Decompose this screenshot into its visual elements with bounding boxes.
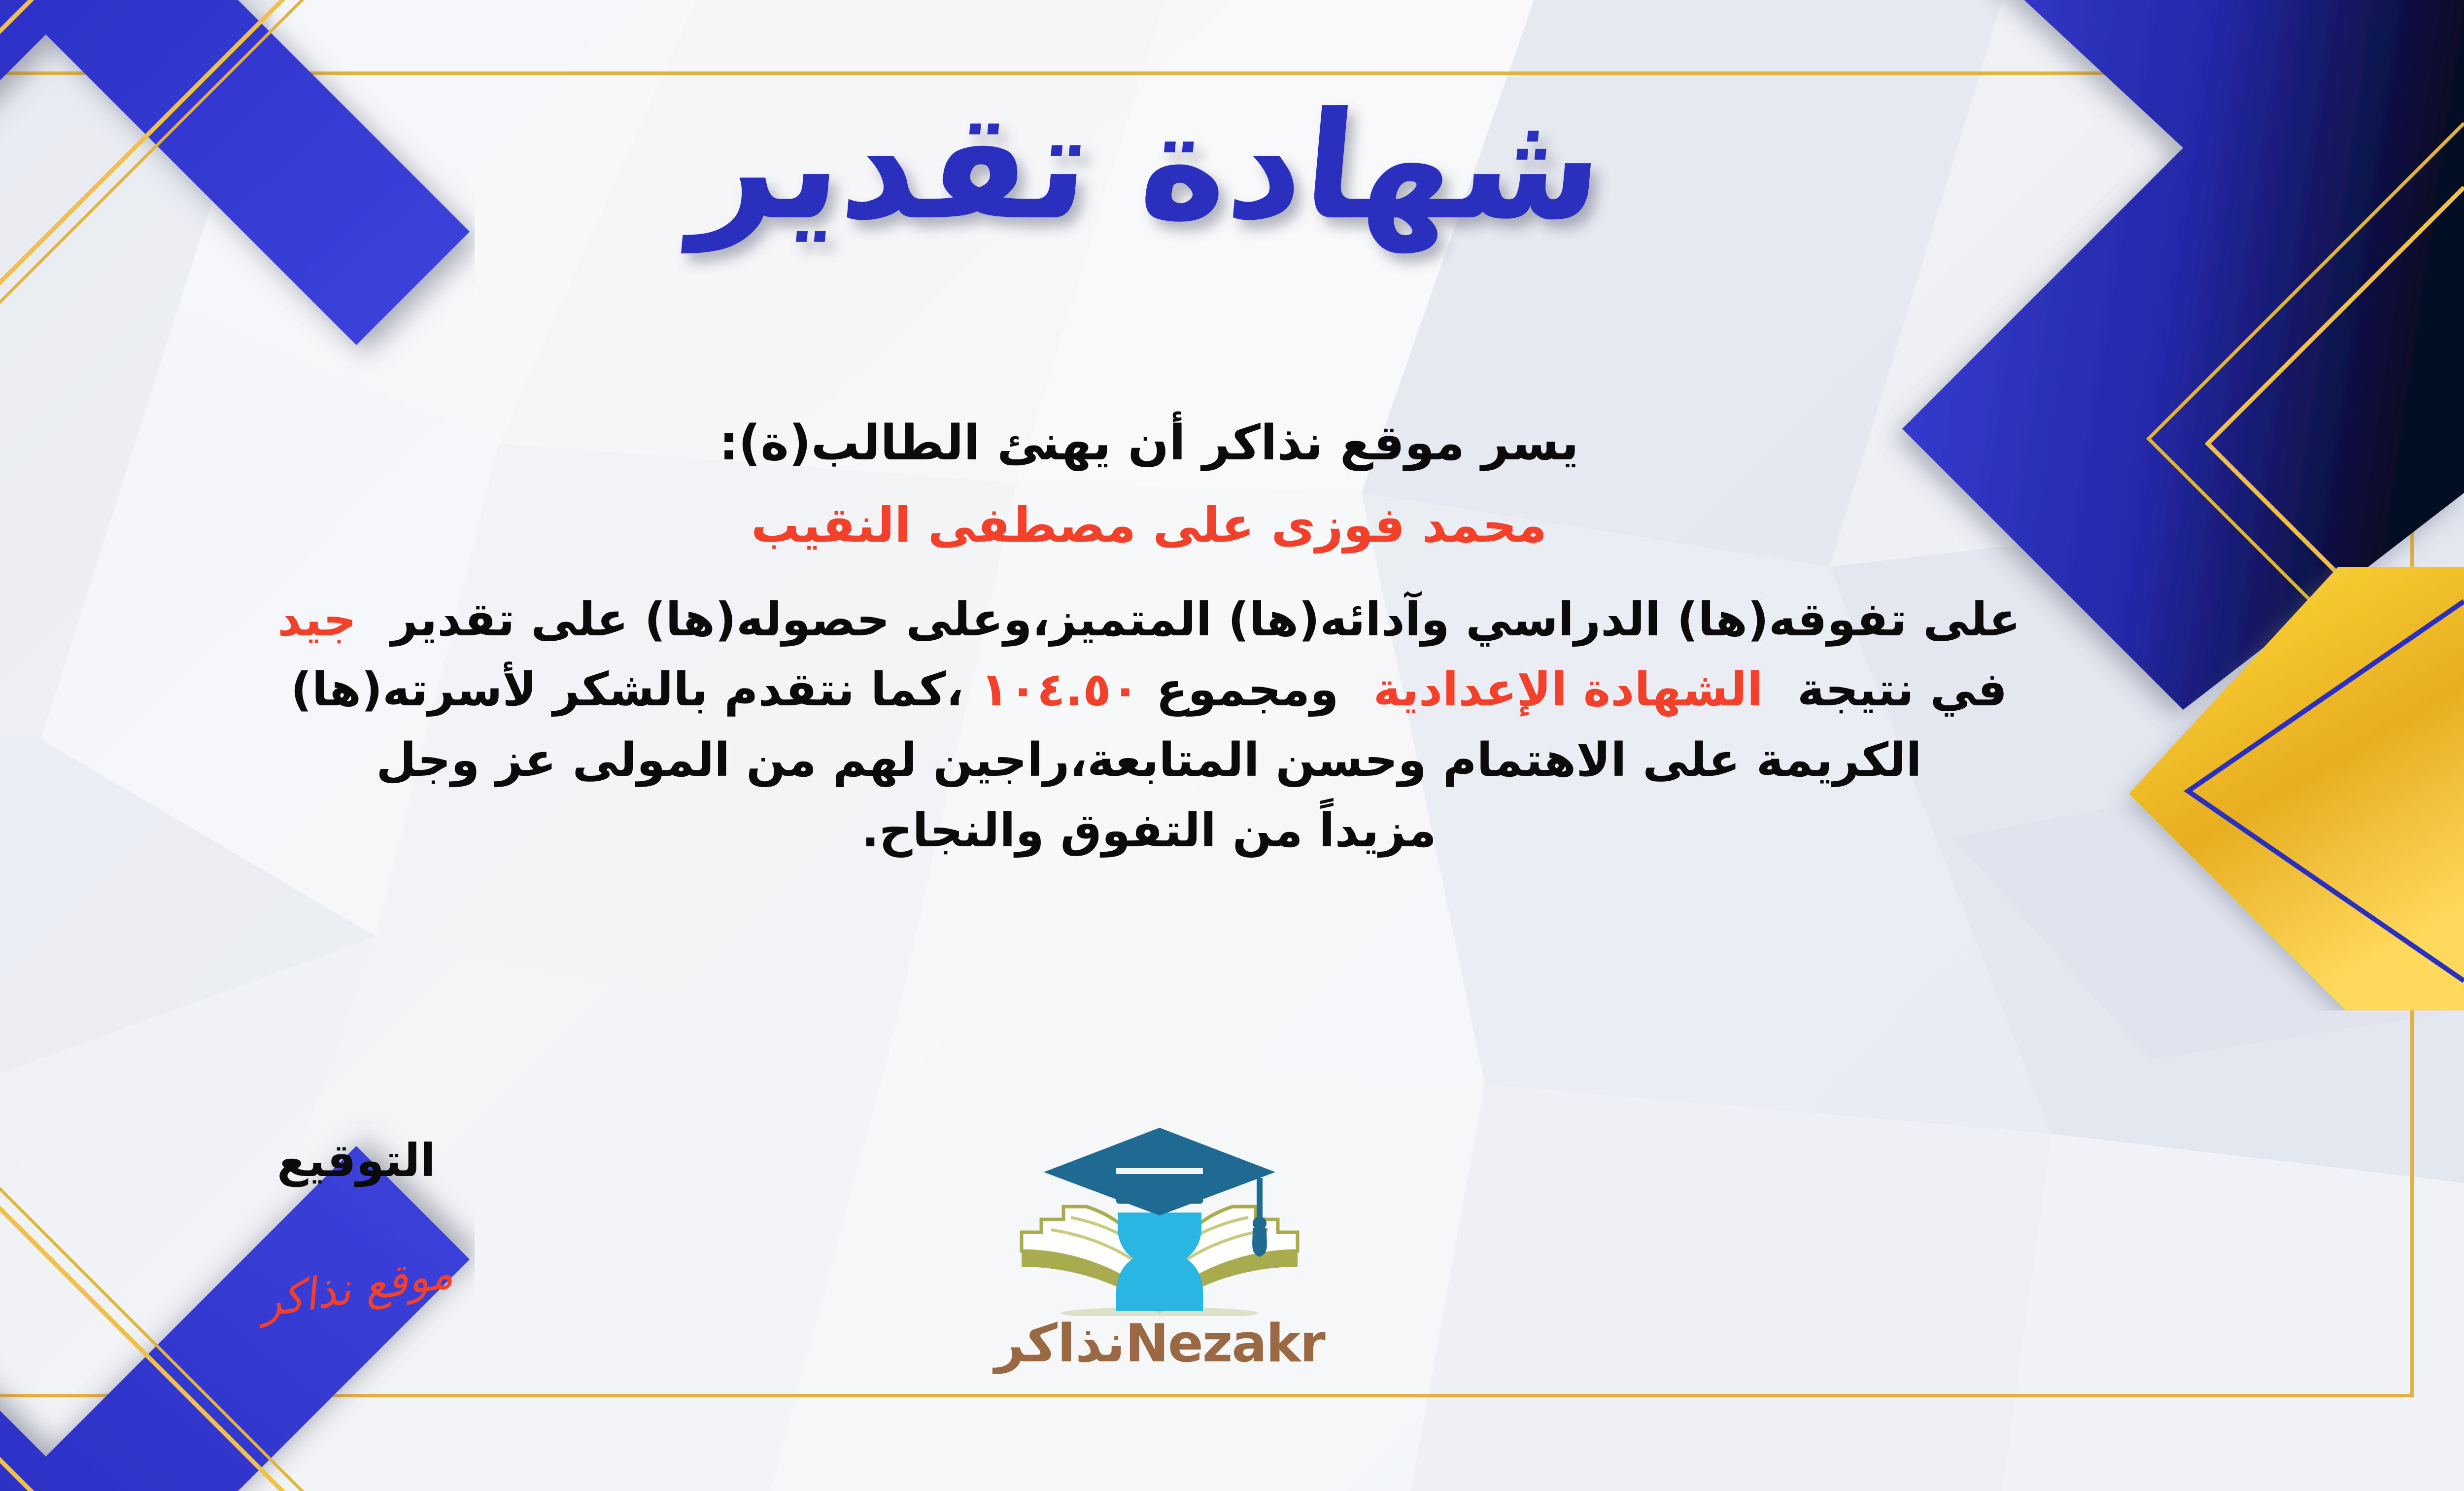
logo-latin-name: Nezakr [1125, 1313, 1325, 1374]
paragraph-line-3: على تفوقه(ها) الدراسي وآدائه(ها) المتميز… [0, 585, 2380, 656]
paragraph-line-6: مزيداً من التفوق والنجاح. [0, 796, 2380, 867]
thanks-suffix: ،كما نتقدم بالشكر لأسرته(ها) [291, 663, 964, 717]
page-title: شهادة تقدير [687, 74, 1611, 259]
student-figure-icon [1116, 1213, 1203, 1311]
grade-value: جيد [277, 593, 356, 647]
total-score-value: ١٠٤.٥٠ [980, 663, 1139, 717]
achievement-text: على تفوقه(ها) الدراسي وآدائه(ها) المتميز… [391, 593, 2020, 647]
paragraph-line-5: الكريمة على الاهتمام وحسن المتابعة،راجين… [0, 726, 2380, 796]
brand-logo: Nezakrنذاكر [972, 1119, 1347, 1374]
total-label: ومجموع [1156, 663, 1339, 717]
student-name: محمد فوزى على مصطفى النقيب [0, 494, 2380, 557]
signature-block: التوقيع موقع نذاكر [174, 1134, 539, 1313]
logo-arabic-name: نذاكر [994, 1313, 1125, 1374]
logo-wordmark: Nezakrنذاكر [972, 1313, 1347, 1374]
exam-name: الشهادة الإعدادية [1373, 663, 1763, 717]
certificate-canvas: شهادة تقدير يسر موقع نذاكر أن يهنئ الطال… [0, 0, 2464, 1491]
achievement-paragraph: على تفوقه(ها) الدراسي وآدائه(ها) المتميز… [0, 585, 2380, 867]
intro-line: يسر موقع نذاكر أن يهنئ الطالب(ة): [0, 409, 2380, 478]
result-prefix: في نتيجة [1797, 663, 2007, 717]
paragraph-line-4: في نتيجةالشهادة الإعداديةومجموع١٠٤.٥٠،كم… [0, 655, 2380, 726]
signature-label: التوقيع [174, 1134, 539, 1188]
certificate-title-area: شهادة تقدير [0, 74, 2464, 259]
logo-mark [972, 1119, 1347, 1316]
certificate-body: يسر موقع نذاكر أن يهنئ الطالب(ة): محمد ف… [0, 409, 2380, 867]
